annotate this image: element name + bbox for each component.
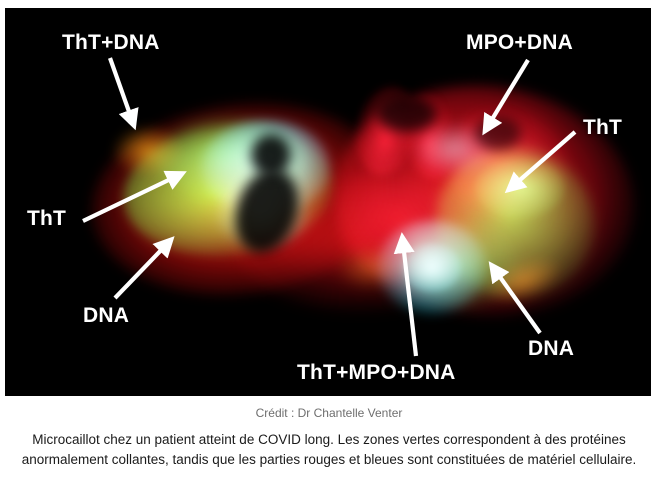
- arrow-dna-left: [115, 244, 167, 298]
- arrow-tht-dna: [110, 58, 132, 120]
- figure-credit: Crédit : Dr Chantelle Venter: [0, 406, 658, 420]
- label-tht-mpo-dna: ThT+MPO+DNA: [297, 362, 456, 384]
- label-dna-right: DNA: [528, 338, 574, 360]
- micrograph-figure: ThT+DNA MPO+DNA ThT ThT DNA DNA ThT+MPO+…: [5, 8, 651, 396]
- arrow-tht-mpo-dna: [403, 243, 416, 356]
- figure-page: ThT+DNA MPO+DNA ThT ThT DNA DNA ThT+MPO+…: [0, 0, 658, 500]
- label-dna-left: DNA: [83, 305, 129, 327]
- arrow-tht-right: [513, 132, 575, 186]
- label-tht-right: ThT: [583, 117, 622, 139]
- arrow-mpo-dna: [488, 60, 528, 126]
- label-tht-left: ThT: [27, 208, 66, 230]
- figure-caption: Microcaillot chez un patient atteint de …: [12, 430, 646, 470]
- arrow-dna-right: [495, 270, 540, 333]
- label-mpo-dna: MPO+DNA: [466, 32, 573, 54]
- arrow-tht-left: [83, 176, 177, 221]
- label-tht-dna: ThT+DNA: [62, 32, 160, 54]
- annotation-layer: ThT+DNA MPO+DNA ThT ThT DNA DNA ThT+MPO+…: [5, 8, 651, 396]
